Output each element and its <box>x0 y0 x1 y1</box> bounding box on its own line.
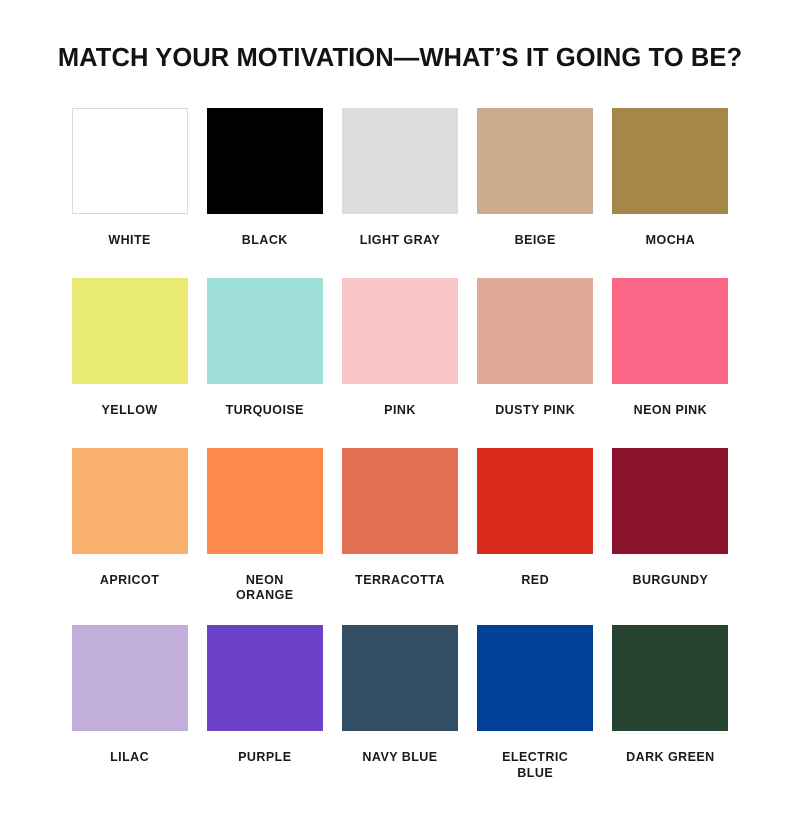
swatch-cell[interactable]: NEON PINK <box>611 278 730 419</box>
color-label: PINK <box>384 403 416 419</box>
swatch-cell[interactable]: DARK GREEN <box>611 625 730 781</box>
color-label: DARK GREEN <box>626 750 715 766</box>
swatch-grid: WHITEBLACKLIGHT GRAYBEIGEMOCHAYELLOWTURQ… <box>70 89 730 782</box>
color-label: WHITE <box>108 233 151 249</box>
page-title: MATCH YOUR MOTIVATION—WHAT’S IT GOING TO… <box>0 17 800 72</box>
color-chip[interactable] <box>342 278 458 384</box>
swatch-cell[interactable]: WHITE <box>70 108 189 249</box>
color-label: YELLOW <box>102 403 158 419</box>
swatch-cell[interactable]: BURGUNDY <box>611 448 730 604</box>
color-chip[interactable] <box>342 625 458 731</box>
swatch-cell[interactable]: MOCHA <box>611 108 730 249</box>
color-label: NAVY BLUE <box>362 750 437 766</box>
swatch-cell[interactable]: APRICOT <box>70 448 189 604</box>
swatch-cell[interactable]: TURQUOISE <box>205 278 324 419</box>
color-chip[interactable] <box>477 448 593 554</box>
color-chip[interactable] <box>72 448 188 554</box>
color-chip[interactable] <box>477 278 593 384</box>
color-chip[interactable] <box>207 448 323 554</box>
color-label: PURPLE <box>238 750 291 766</box>
color-chip[interactable] <box>72 108 188 214</box>
swatch-cell[interactable]: PURPLE <box>205 625 324 781</box>
swatch-cell[interactable]: BLACK <box>205 108 324 249</box>
swatch-cell[interactable]: LILAC <box>70 625 189 781</box>
swatch-cell[interactable]: RED <box>476 448 595 604</box>
color-label: NEON ORANGE <box>236 573 294 604</box>
color-chip[interactable] <box>207 278 323 384</box>
color-chart-page: MATCH YOUR MOTIVATION—WHAT’S IT GOING TO… <box>0 17 800 817</box>
color-chip[interactable] <box>72 625 188 731</box>
color-label: DUSTY PINK <box>495 403 575 419</box>
row-spacer <box>70 249 730 278</box>
color-chip[interactable] <box>477 108 593 214</box>
color-label: MOCHA <box>646 233 695 249</box>
color-chip[interactable] <box>612 108 728 214</box>
swatch-cell[interactable]: BEIGE <box>476 108 595 249</box>
swatch-cell[interactable]: NEON ORANGE <box>205 448 324 604</box>
color-chip[interactable] <box>342 108 458 214</box>
swatch-cell[interactable]: YELLOW <box>70 278 189 419</box>
color-chip[interactable] <box>207 625 323 731</box>
color-chip[interactable] <box>207 108 323 214</box>
color-chip[interactable] <box>72 278 188 384</box>
color-label: TERRACOTTA <box>355 573 445 589</box>
color-chip[interactable] <box>612 278 728 384</box>
swatch-cell[interactable]: NAVY BLUE <box>340 625 459 781</box>
row-spacer <box>70 604 730 625</box>
color-chip[interactable] <box>342 448 458 554</box>
color-label: TURQUOISE <box>226 403 304 419</box>
swatch-cell[interactable]: DUSTY PINK <box>476 278 595 419</box>
color-label: ELECTRIC BLUE <box>502 750 568 781</box>
swatch-cell[interactable]: LIGHT GRAY <box>340 108 459 249</box>
color-chip[interactable] <box>612 448 728 554</box>
row-spacer <box>70 419 730 448</box>
color-label: LILAC <box>110 750 149 766</box>
swatch-cell[interactable]: ELECTRIC BLUE <box>476 625 595 781</box>
swatch-cell[interactable]: TERRACOTTA <box>340 448 459 604</box>
color-label: BURGUNDY <box>632 573 708 589</box>
color-chip[interactable] <box>612 625 728 731</box>
color-label: RED <box>521 573 549 589</box>
color-label: NEON PINK <box>634 403 708 419</box>
color-label: BLACK <box>242 233 288 249</box>
color-label: APRICOT <box>100 573 159 589</box>
swatch-cell[interactable]: PINK <box>340 278 459 419</box>
color-chip[interactable] <box>477 625 593 731</box>
color-label: LIGHT GRAY <box>360 233 440 249</box>
color-label: BEIGE <box>515 233 556 249</box>
